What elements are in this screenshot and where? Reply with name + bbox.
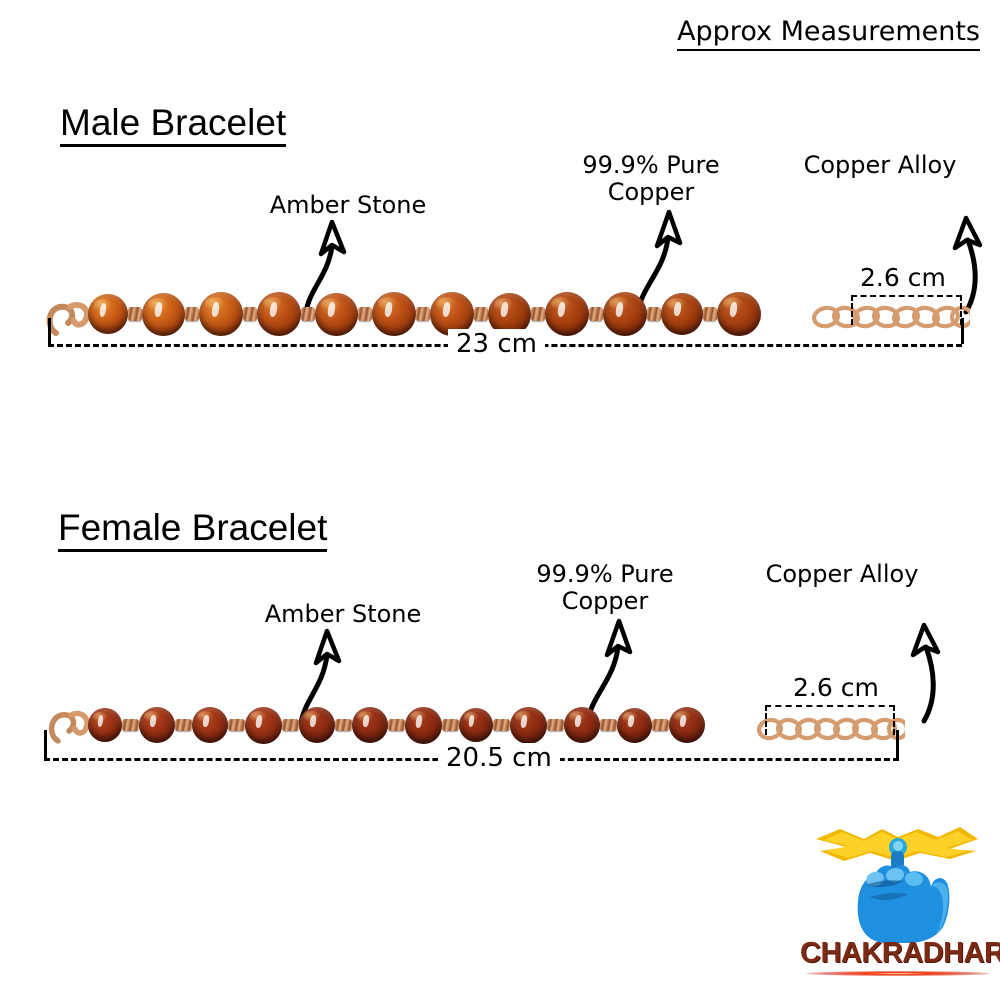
copper-wire-wrap (122, 719, 139, 731)
logo-brand-text: CHAKRADHARI (800, 937, 996, 970)
bead (142, 293, 185, 336)
male-length-tick-left (48, 318, 51, 344)
chakradhari-logo: CHAKRADHARI (800, 815, 996, 995)
bead (617, 708, 652, 743)
female-pure-copper-label: 99.9% Pure Copper (510, 561, 700, 615)
copper-wire-wrap (175, 719, 192, 731)
approx-measurements-title: Approx Measurements (677, 16, 980, 51)
logo-hand-chakra-icon (800, 815, 996, 945)
bead (459, 708, 493, 742)
male-bracelet-title: Male Bracelet (60, 104, 286, 147)
copper-wire-wrap (647, 307, 661, 321)
bead (405, 707, 442, 744)
female-extender-bracket (765, 705, 895, 735)
bead (564, 707, 600, 743)
infographic-canvas: Approx Measurements Male Bracelet Amber … (0, 0, 1000, 1000)
bead (603, 292, 647, 336)
copper-wire-wrap (416, 307, 430, 321)
female-copper-alloy-label: Copper Alloy (742, 561, 942, 588)
copper-wire-wrap (493, 719, 510, 731)
female-clasp (48, 703, 92, 745)
bead (352, 707, 388, 743)
hand-icon (858, 865, 950, 943)
bead (372, 292, 416, 336)
male-extender-dimension-text: 2.6 cm (860, 263, 946, 292)
female-length-tick-left (44, 730, 47, 758)
copper-wire-wrap (652, 719, 669, 731)
copper-wire-wrap (301, 307, 315, 321)
copper-wire-wrap (442, 719, 459, 731)
copper-wire-wrap (547, 719, 564, 731)
copper-wire-wrap (282, 719, 299, 731)
bead (661, 293, 703, 335)
copper-wire-wrap (474, 307, 488, 321)
male-copper-alloy-label: Copper Alloy (780, 152, 980, 179)
male-clasp (46, 293, 92, 337)
bead (299, 707, 335, 743)
bead (88, 708, 122, 742)
bead (257, 292, 301, 336)
male-amber-stone-label: Amber Stone (233, 192, 463, 219)
bead (245, 707, 282, 744)
male-bead-strand (88, 291, 761, 337)
bead (669, 707, 705, 743)
male-extender-bracket (851, 295, 962, 325)
copper-wire-wrap (228, 719, 245, 731)
male-length-dimension-text: 23 cm (448, 329, 545, 359)
female-amber-stone-label: Amber Stone (228, 601, 458, 628)
copper-wire-wrap (531, 307, 545, 321)
copper-wire-wrap (335, 719, 352, 731)
copper-wire-wrap (703, 307, 717, 321)
copper-wire-wrap (358, 307, 372, 321)
copper-wire-wrap (589, 307, 603, 321)
bead (88, 294, 128, 334)
bead (545, 292, 589, 336)
male-pure-copper-label: 99.9% Pure Copper (556, 152, 746, 206)
bead (510, 707, 547, 744)
female-copper-alloy-arrow (898, 625, 954, 723)
copper-wire-wrap (128, 307, 142, 321)
female-length-tick-right (896, 730, 899, 758)
female-bracelet-title: Female Bracelet (58, 509, 327, 552)
bead (192, 707, 228, 743)
copper-wire-wrap (388, 719, 405, 731)
bead (139, 707, 175, 743)
copper-wire-wrap (185, 307, 199, 321)
female-length-dimension-text: 20.5 cm (438, 743, 560, 773)
copper-wire-wrap (243, 307, 257, 321)
bead (315, 293, 358, 336)
male-length-tick-right (961, 318, 964, 344)
bead (717, 292, 761, 336)
female-bead-strand (88, 705, 705, 745)
bead (199, 292, 243, 336)
copper-wire-wrap (600, 719, 617, 731)
logo-glow-line (806, 971, 990, 976)
female-extender-dimension-text: 2.6 cm (793, 673, 879, 702)
